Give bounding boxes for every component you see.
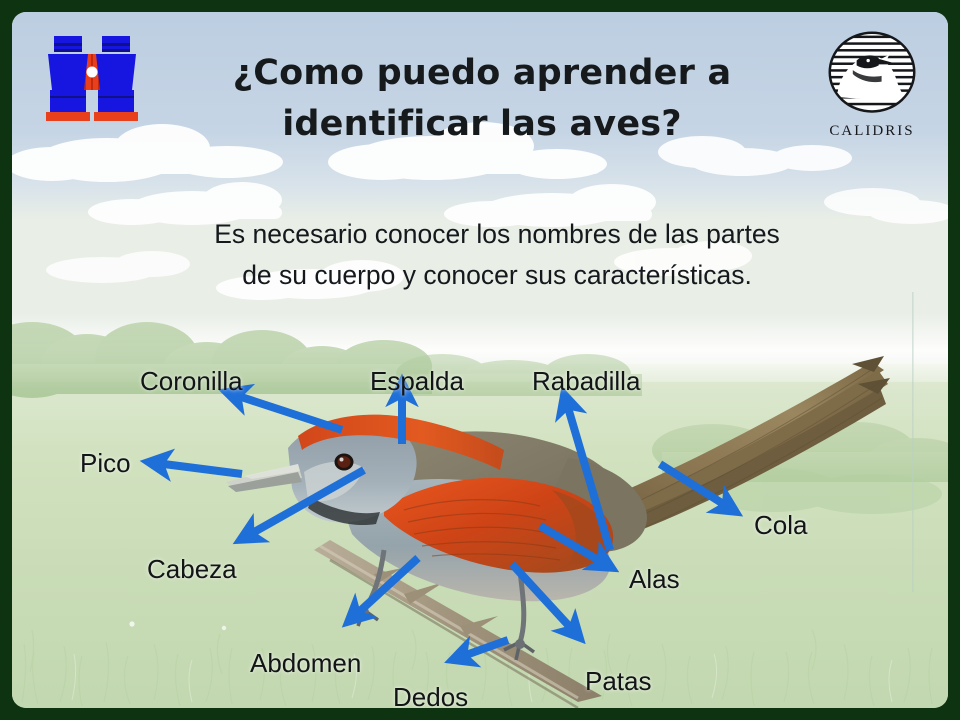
arrow-coronilla [226,392,342,430]
label-abdomen: Abdomen [250,648,361,679]
pointer-arrows [12,12,948,708]
label-pico: Pico [80,448,131,479]
label-espalda: Espalda [370,366,464,397]
label-cola: Cola [754,510,807,541]
label-cabeza: Cabeza [147,554,237,585]
arrow-dedos [452,640,508,660]
label-rabadilla: Rabadilla [532,366,640,397]
label-coronilla: Coronilla [140,366,243,397]
arrow-pico [148,462,242,474]
arrow-abdomen [348,558,418,622]
arrow-patas [512,564,580,638]
slide-frame: CALIDRIS ¿Como puedo aprender a identifi… [0,0,960,720]
label-dedos: Dedos [393,682,468,708]
label-alas: Alas [629,564,680,595]
arrow-cola [660,464,736,512]
scene-canvas: CALIDRIS ¿Como puedo aprender a identifi… [12,12,948,708]
arrow-rabadilla [564,394,610,550]
arrow-cabeza [240,470,364,540]
label-patas: Patas [585,666,652,697]
